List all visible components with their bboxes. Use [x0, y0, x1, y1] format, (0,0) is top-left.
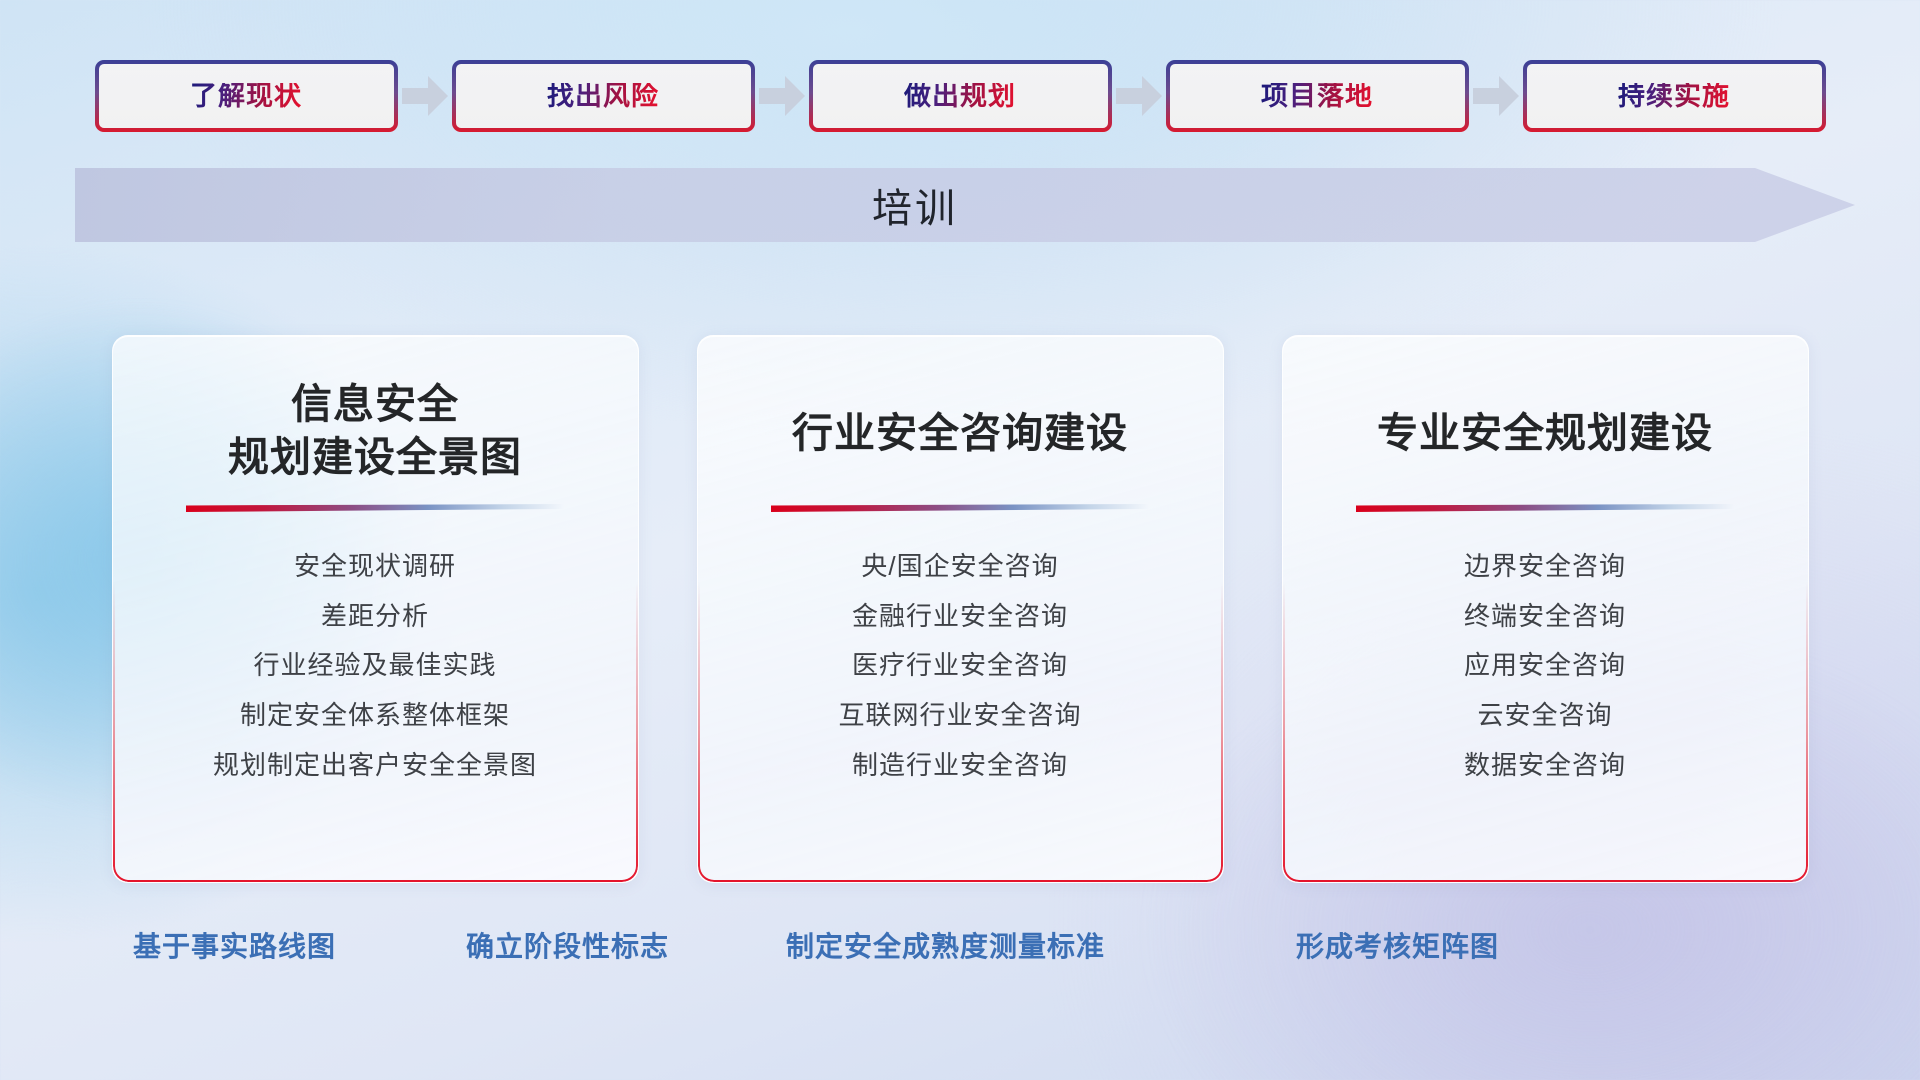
- footer-caption-3: 制定安全成熟度测量标准: [786, 925, 1105, 965]
- process-step-label: 找出风险: [547, 83, 659, 110]
- footer-caption-1: 基于事实路线图: [133, 925, 336, 965]
- arrow-right-icon: [398, 60, 452, 132]
- process-step-label: 持续实施: [1618, 83, 1730, 110]
- arrow-right-icon: [1469, 60, 1523, 132]
- list-item: 制造行业安全咨询: [852, 747, 1068, 785]
- list-item: 安全现状调研: [294, 548, 456, 586]
- capability-card-list: 边界安全咨询终端安全咨询应用安全咨询云安全咨询数据安全咨询: [1464, 548, 1626, 784]
- list-item: 差距分析: [321, 598, 429, 636]
- capability-card-3[interactable]: 专业安全规划建设边界安全咨询终端安全咨询应用安全咨询云安全咨询数据安全咨询: [1282, 335, 1809, 883]
- capability-card-2[interactable]: 行业安全咨询建设央/国企安全咨询金融行业安全咨询医疗行业安全咨询互联网行业安全咨…: [697, 335, 1224, 883]
- capability-card-title-line: 规划建设全景图: [228, 431, 522, 484]
- process-step-label: 了解现状: [190, 83, 302, 110]
- arrow-right-icon: [1112, 60, 1166, 132]
- capability-card-list: 央/国企安全咨询金融行业安全咨询医疗行业安全咨询互联网行业安全咨询制造行业安全咨…: [838, 548, 1081, 784]
- list-item: 规划制定出客户安全全景图: [213, 747, 537, 785]
- list-item: 互联网行业安全咨询: [838, 697, 1081, 735]
- process-step-label: 做出规划: [904, 83, 1016, 110]
- footer-caption-4: 形成考核矩阵图: [1296, 925, 1499, 965]
- arrow-right-icon: [755, 60, 809, 132]
- capability-card-divider: [771, 504, 1149, 512]
- list-item: 应用安全咨询: [1464, 647, 1626, 685]
- process-step-3[interactable]: 做出规划: [809, 60, 1112, 132]
- process-step-flow: 了解现状找出风险做出规划项目落地持续实施: [0, 58, 1920, 134]
- capability-card-1[interactable]: 信息安全规划建设全景图安全现状调研差距分析行业经验及最佳实践制定安全体系整体框架…: [112, 335, 639, 883]
- capability-card-row: 信息安全规划建设全景图安全现状调研差距分析行业经验及最佳实践制定安全体系整体框架…: [0, 335, 1920, 883]
- capability-card-title-line: 行业安全咨询建设: [792, 407, 1128, 460]
- capability-card-body: 专业安全规划建设边界安全咨询终端安全咨询应用安全咨询云安全咨询数据安全咨询: [1283, 336, 1808, 882]
- capability-card-body: 行业安全咨询建设央/国企安全咨询金融行业安全咨询医疗行业安全咨询互联网行业安全咨…: [698, 336, 1223, 882]
- list-item: 制定安全体系整体框架: [240, 697, 510, 735]
- list-item: 金融行业安全咨询: [852, 598, 1068, 636]
- capability-card-body: 信息安全规划建设全景图安全现状调研差距分析行业经验及最佳实践制定安全体系整体框架…: [113, 336, 638, 882]
- list-item: 行业经验及最佳实践: [253, 647, 496, 685]
- process-step-label: 项目落地: [1261, 83, 1373, 110]
- list-item: 云安全咨询: [1477, 697, 1612, 735]
- training-banner: 培训: [75, 168, 1855, 242]
- capability-card-title: 行业安全咨询建设: [792, 378, 1128, 490]
- capability-card-title: 专业安全规划建设: [1377, 378, 1713, 490]
- capability-card-list: 安全现状调研差距分析行业经验及最佳实践制定安全体系整体框架规划制定出客户安全全景…: [213, 548, 537, 784]
- list-item: 央/国企安全咨询: [861, 548, 1058, 586]
- capability-card-title-line: 信息安全: [228, 378, 522, 431]
- capability-card-title-text: 专业安全规划建设: [1377, 407, 1713, 460]
- capability-card-divider: [186, 504, 564, 512]
- capability-card-title-text: 行业安全咨询建设: [792, 407, 1128, 460]
- process-step-5[interactable]: 持续实施: [1523, 60, 1826, 132]
- process-step-1[interactable]: 了解现状: [95, 60, 398, 132]
- list-item: 数据安全咨询: [1464, 747, 1626, 785]
- capability-card-title: 信息安全规划建设全景图: [228, 378, 522, 490]
- capability-card-title-text: 信息安全规划建设全景图: [228, 378, 522, 485]
- footer-caption-2: 确立阶段性标志: [466, 925, 669, 965]
- process-step-4[interactable]: 项目落地: [1166, 60, 1469, 132]
- training-banner-title: 培训: [75, 168, 1855, 242]
- capability-card-divider: [1356, 504, 1734, 512]
- footer-caption-row: 基于事实路线图确立阶段性标志制定安全成熟度测量标准形成考核矩阵图: [0, 925, 1920, 985]
- list-item: 边界安全咨询: [1464, 548, 1626, 586]
- list-item: 终端安全咨询: [1464, 598, 1626, 636]
- capability-card-title-line: 专业安全规划建设: [1377, 407, 1713, 460]
- list-item: 医疗行业安全咨询: [852, 647, 1068, 685]
- process-step-2[interactable]: 找出风险: [452, 60, 755, 132]
